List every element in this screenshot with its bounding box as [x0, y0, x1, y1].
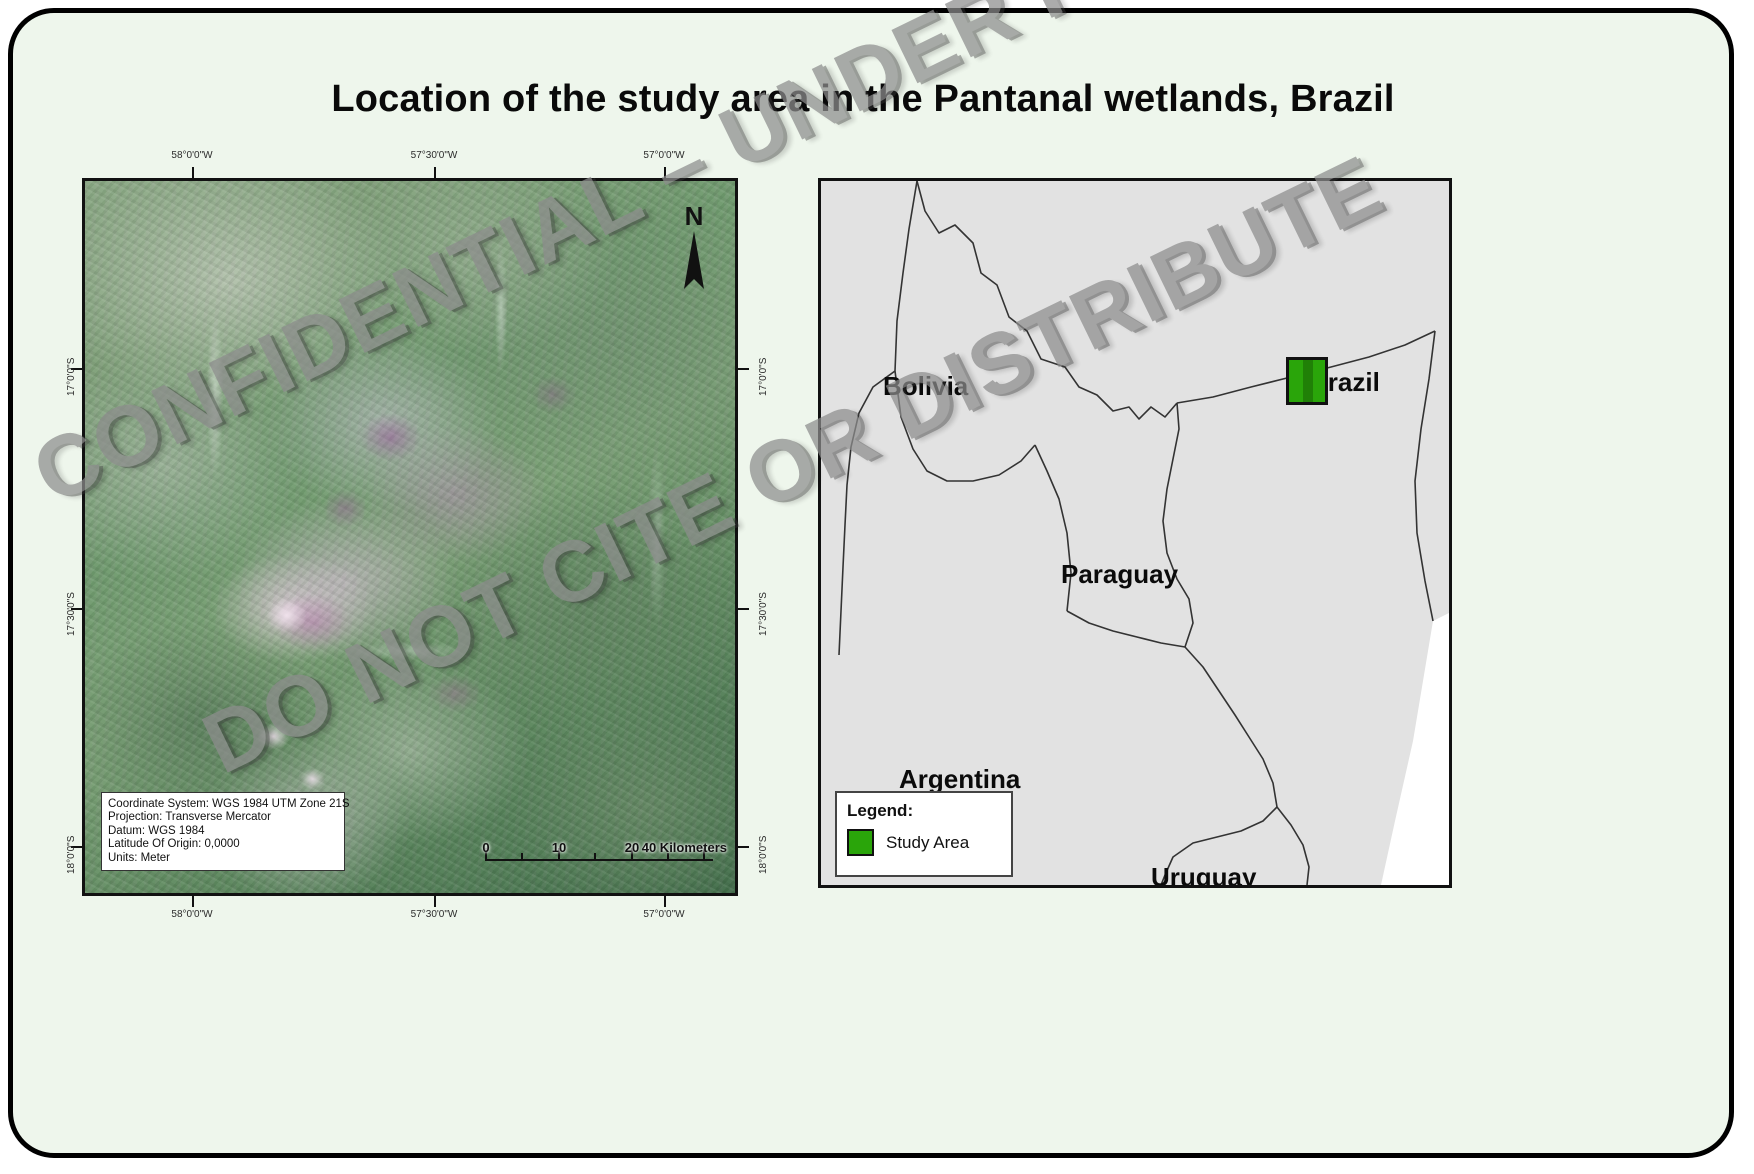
figure-title: Location of the study area in the Pantan…: [0, 78, 1726, 121]
legend-box: Legend: Study Area: [835, 791, 1013, 877]
axis-label-top: 57°30'0"W: [411, 150, 458, 161]
scale-bar-label: 0: [482, 840, 489, 855]
info-coordinate-system: Coordinate System: WGS 1984 UTM Zone 21S: [108, 798, 338, 812]
scale-bar-tick: [521, 853, 523, 861]
axis-tick-right: [738, 608, 749, 610]
axis-tick-top: [664, 167, 666, 178]
north-arrow: N: [671, 203, 717, 295]
axis-label-top: 57°0'0"W: [643, 150, 684, 161]
legend-swatch-study-area: [847, 829, 874, 856]
main-map-frame: N Coordinate System: WGS 1984 UTM Zone 2…: [82, 178, 738, 896]
country-label-bolivia: Bolivia: [883, 371, 968, 402]
axis-label-bottom: 58°0'0"W: [171, 909, 212, 920]
projection-info-box: Coordinate System: WGS 1984 UTM Zone 21S…: [101, 792, 345, 872]
axis-tick-top: [434, 167, 436, 178]
info-units: Units: Meter: [108, 852, 338, 866]
axis-label-left: 17°0'0"S: [66, 358, 77, 396]
legend-label-study-area: Study Area: [886, 833, 969, 853]
info-latitude-of-origin: Latitude Of Origin: 0,0000: [108, 838, 338, 852]
inset-map-frame: Bolivia Brazil Paraguay Argentina Urugua…: [818, 178, 1452, 888]
info-datum: Datum: WGS 1984: [108, 825, 338, 839]
north-arrow-label: N: [671, 203, 717, 229]
axis-label-right: 17°0'0"S: [758, 358, 769, 396]
legend-item: Study Area: [847, 829, 1001, 856]
axis-tick-bottom: [192, 896, 194, 907]
study-area-marker[interactable]: [1286, 357, 1328, 405]
axis-label-left: 17°30'0"S: [66, 592, 77, 636]
axis-tick-bottom: [664, 896, 666, 907]
axis-label-bottom: 57°30'0"W: [411, 909, 458, 920]
axis-tick-bottom: [434, 896, 436, 907]
scale-bar-line: [485, 859, 713, 861]
axis-label-right: 18°0'0"S: [758, 836, 769, 874]
axis-tick-right: [738, 368, 749, 370]
scale-bar-label: 20: [625, 840, 639, 855]
satellite-raster-lakes: [85, 181, 735, 893]
north-arrow-icon: [671, 229, 717, 291]
scale-bar-tick: [594, 853, 596, 861]
scale-bar-label: 10: [552, 840, 566, 855]
info-projection: Projection: Transverse Mercator: [108, 811, 338, 825]
axis-label-right: 17°30'0"S: [758, 592, 769, 636]
axis-label-top: 58°0'0"W: [171, 150, 212, 161]
legend-title: Legend:: [847, 801, 1001, 821]
main-map-panel: N Coordinate System: WGS 1984 UTM Zone 2…: [82, 178, 738, 896]
axis-label-bottom: 57°0'0"W: [643, 909, 684, 920]
country-label-paraguay: Paraguay: [1061, 559, 1178, 590]
figure-page: Location of the study area in the Pantan…: [0, 0, 1754, 1174]
axis-tick-top: [192, 167, 194, 178]
inset-map-panel: Bolivia Brazil Paraguay Argentina Urugua…: [818, 178, 1452, 888]
scale-bar-unit-label: 40 Kilometers: [642, 840, 727, 855]
scale-bar: 0 10 20 40 Kilometers: [475, 829, 727, 869]
country-label-uruguay: Uruguay: [1151, 862, 1256, 888]
axis-label-left: 18°0'0"S: [66, 836, 77, 874]
axis-tick-right: [738, 846, 749, 848]
